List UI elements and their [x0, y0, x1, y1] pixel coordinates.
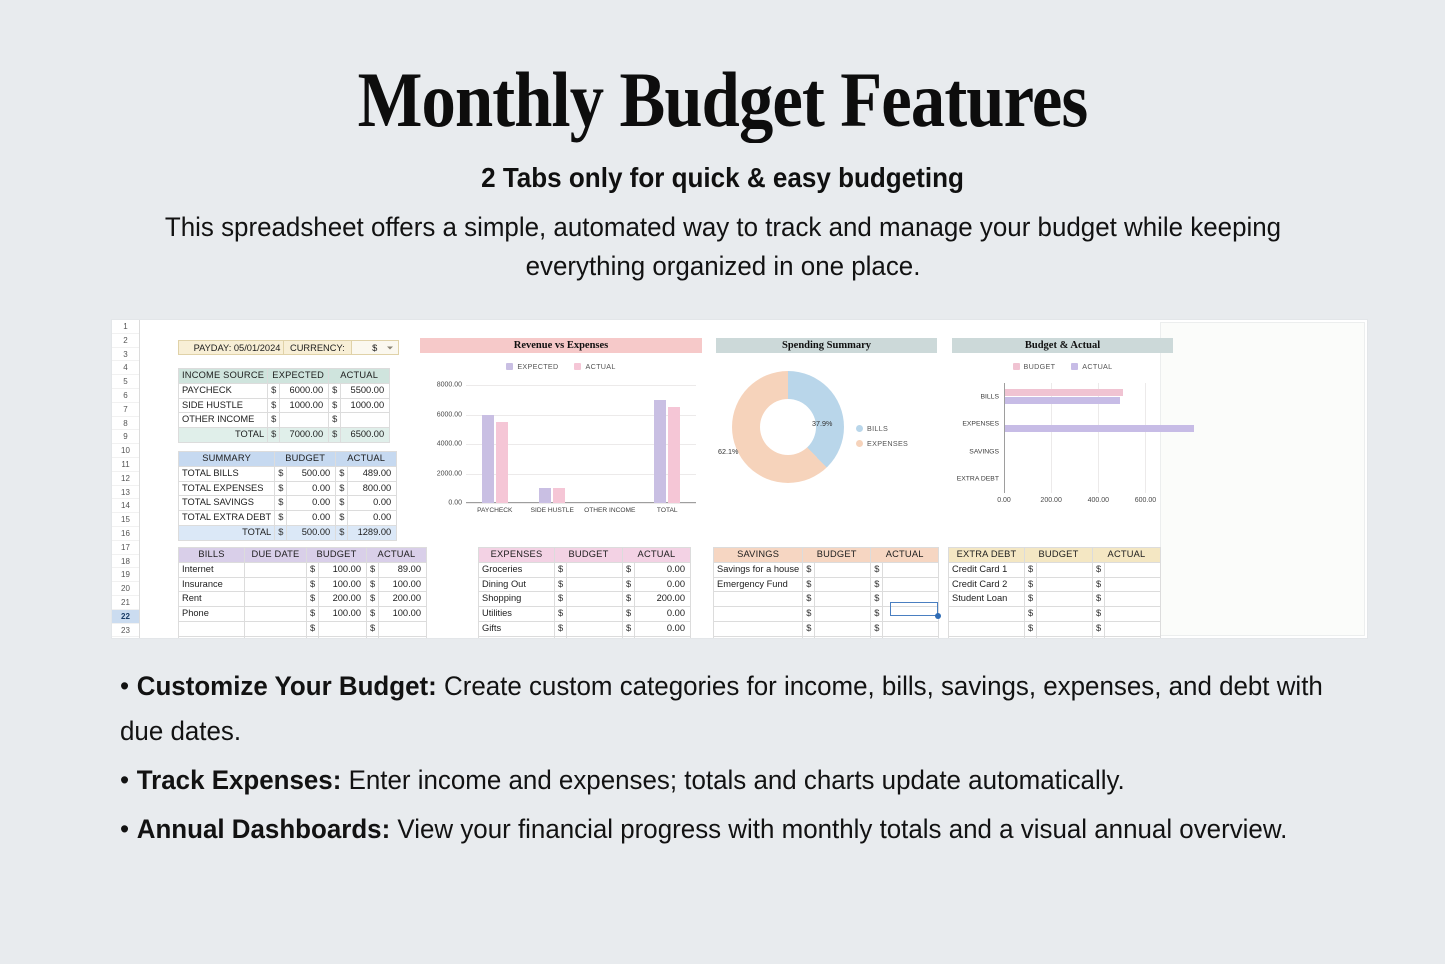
- value-cell[interactable]: [567, 577, 623, 592]
- currency-symbol[interactable]: $: [871, 592, 883, 607]
- currency-symbol[interactable]: $: [268, 398, 280, 413]
- value-cell[interactable]: 0.00: [348, 511, 397, 526]
- x-axis-tick-label: TOTAL: [657, 507, 678, 514]
- currency-symbol[interactable]: $: [871, 577, 883, 592]
- value-cell[interactable]: [1105, 621, 1161, 636]
- table-row[interactable]: Utilities$$0.00: [479, 607, 691, 622]
- currency-symbol[interactable]: $: [268, 413, 280, 428]
- legend-item: ACTUAL: [574, 362, 615, 371]
- value-cell[interactable]: [883, 577, 939, 592]
- chart-title-revenue: Revenue vs Expenses: [420, 338, 702, 353]
- value-cell[interactable]: [815, 621, 871, 636]
- currency-symbol[interactable]: $: [1025, 562, 1037, 577]
- value-cell[interactable]: [319, 636, 367, 638]
- value-cell[interactable]: [815, 577, 871, 592]
- row-label[interactable]: Student Loan: [949, 592, 1025, 607]
- value-cell[interactable]: [379, 621, 427, 636]
- currency-symbol[interactable]: $: [871, 636, 883, 638]
- row-label[interactable]: Rent: [179, 592, 245, 607]
- currency-symbol[interactable]: $: [268, 383, 280, 398]
- value-cell[interactable]: 0.00: [635, 621, 691, 636]
- header-row: EXPENSESBUDGETACTUAL: [479, 548, 691, 563]
- row-label[interactable]: PAYCHECK: [179, 383, 268, 398]
- value-cell[interactable]: [815, 636, 871, 638]
- value-cell[interactable]: [567, 621, 623, 636]
- value-cell[interactable]: [567, 636, 623, 638]
- row-number[interactable]: 7: [112, 403, 139, 417]
- row-label[interactable]: TOTAL BILLS: [179, 466, 275, 481]
- row-number[interactable]: 8: [112, 417, 139, 431]
- table-row[interactable]: $$: [179, 636, 427, 638]
- currency-symbol[interactable]: $: [555, 577, 567, 592]
- currency-symbol[interactable]: $: [307, 577, 319, 592]
- bar: [496, 422, 508, 503]
- value-cell[interactable]: 1000.00: [341, 398, 390, 413]
- value-cell[interactable]: 5500.00: [341, 383, 390, 398]
- currency-symbol[interactable]: $: [336, 481, 348, 496]
- row-number[interactable]: 23: [112, 624, 139, 638]
- column-header: BILLS: [179, 548, 245, 563]
- currency-symbol[interactable]: $: [1025, 636, 1037, 638]
- currency-symbol[interactable]: $: [1093, 621, 1105, 636]
- value-cell[interactable]: [1105, 592, 1161, 607]
- savings-table[interactable]: SAVINGSBUDGETACTUALSavings for a house$$…: [713, 547, 939, 638]
- currency-symbol[interactable]: $: [1093, 607, 1105, 622]
- bar: [668, 407, 680, 503]
- currency-symbol[interactable]: $: [1025, 621, 1037, 636]
- currency-symbol[interactable]: $: [1093, 562, 1105, 577]
- currency-symbol[interactable]: $: [275, 481, 287, 496]
- table-row[interactable]: $$: [714, 636, 939, 638]
- table-row[interactable]: Transportation$$0.00: [479, 636, 691, 638]
- value-cell[interactable]: [883, 607, 939, 622]
- row-number[interactable]: 11: [112, 458, 139, 472]
- summary-table[interactable]: SUMMARYBUDGETACTUALTOTAL BILLS$500.00$48…: [178, 451, 397, 541]
- row-label[interactable]: Groceries: [479, 562, 555, 577]
- currency-symbol[interactable]: $: [803, 562, 815, 577]
- table-row[interactable]: PAYCHECK$6000.00$5500.00: [179, 383, 390, 398]
- row-label[interactable]: Utilities: [479, 607, 555, 622]
- value-cell[interactable]: [1037, 607, 1093, 622]
- row-number[interactable]: 1: [112, 320, 139, 334]
- currency-symbol[interactable]: $: [336, 511, 348, 526]
- row-number[interactable]: 19: [112, 568, 139, 582]
- value-cell[interactable]: [883, 592, 939, 607]
- legend-label: EXPECTED: [517, 362, 558, 371]
- extra-debt-table[interactable]: EXTRA DEBTBUDGETACTUALCredit Card 1$$Cre…: [948, 547, 1161, 638]
- legend-swatch-bills: [856, 425, 863, 432]
- currency-symbol[interactable]: $: [275, 466, 287, 481]
- row-number[interactable]: 20: [112, 582, 139, 596]
- value-cell[interactable]: 200.00: [379, 592, 427, 607]
- row-number[interactable]: 3: [112, 348, 139, 362]
- currency-symbol[interactable]: $: [367, 607, 379, 622]
- column-header: EXPECTED: [268, 369, 329, 384]
- column-header: ACTUAL: [1093, 548, 1161, 563]
- row-label[interactable]: [714, 621, 803, 636]
- currency-symbol[interactable]: $: [555, 562, 567, 577]
- column-header: EXPENSES: [479, 548, 555, 563]
- value-cell[interactable]: 100.00: [379, 577, 427, 592]
- value-cell[interactable]: 500.00: [287, 466, 336, 481]
- table-row[interactable]: $$: [949, 607, 1161, 622]
- expenses-table[interactable]: EXPENSESBUDGETACTUALGroceries$$0.00Dinin…: [478, 547, 691, 638]
- currency-symbol[interactable]: $: [329, 398, 341, 413]
- currency-symbol[interactable]: $: [275, 496, 287, 511]
- table-row[interactable]: SIDE HUSTLE$1000.00$1000.00: [179, 398, 390, 413]
- value-cell[interactable]: 0.00: [635, 636, 691, 638]
- row-number[interactable]: 15: [112, 513, 139, 527]
- page-subtitle: 2 Tabs only for quick & easy budgeting: [51, 162, 1395, 194]
- currency-selector[interactable]: CURRENCY: $: [283, 340, 399, 355]
- row-label[interactable]: Credit Card 1: [949, 562, 1025, 577]
- row-label[interactable]: Transportation: [479, 636, 555, 638]
- budget-actual-chart: Budget & Actual BUDGET ACTUAL 0.00200.00…: [952, 338, 1173, 493]
- payday-cell[interactable]: PAYDAY: 05/01/2024: [178, 340, 296, 355]
- table-row[interactable]: TOTAL EXTRA DEBT$0.00$0.00: [179, 511, 397, 526]
- column-header: ACTUAL: [871, 548, 939, 563]
- table-row[interactable]: Rent$200.00$200.00: [179, 592, 427, 607]
- table-row[interactable]: $$: [949, 636, 1161, 638]
- value-cell[interactable]: [1037, 562, 1093, 577]
- currency-symbol[interactable]: $: [623, 636, 635, 638]
- table-row[interactable]: TOTAL EXPENSES$0.00$800.00: [179, 481, 397, 496]
- row-label[interactable]: [714, 592, 803, 607]
- table-row[interactable]: $$: [714, 621, 939, 636]
- currency-symbol[interactable]: $: [803, 592, 815, 607]
- row-label[interactable]: Insurance: [179, 577, 245, 592]
- table-row[interactable]: Dining Out$$0.00: [479, 577, 691, 592]
- currency-symbol[interactable]: $: [555, 592, 567, 607]
- table-row[interactable]: Emergency Fund$$: [714, 577, 939, 592]
- bar: [1005, 425, 1194, 432]
- legend-label: BUDGET: [1024, 362, 1056, 371]
- header-row: INCOME SOURCEEXPECTEDACTUAL: [179, 369, 390, 384]
- value-cell[interactable]: [815, 562, 871, 577]
- currency-symbol[interactable]: $: [555, 636, 567, 638]
- feature-item: •Annual Dashboards: View your financial …: [120, 807, 1349, 852]
- legend-swatch-actual: [574, 363, 581, 370]
- row-label[interactable]: Savings for a house: [714, 562, 803, 577]
- donut-value-bills: 37.9%: [812, 419, 832, 428]
- value-cell[interactable]: [1105, 636, 1161, 638]
- table-row[interactable]: $$: [714, 592, 939, 607]
- row-number[interactable]: 22: [112, 610, 139, 624]
- currency-symbol[interactable]: $: [336, 466, 348, 481]
- row-number[interactable]: 5: [112, 375, 139, 389]
- chart-title-budget: Budget & Actual: [952, 338, 1173, 353]
- currency-symbol[interactable]: $: [623, 577, 635, 592]
- value-cell[interactable]: 200.00: [635, 592, 691, 607]
- row-label[interactable]: SIDE HUSTLE: [179, 398, 268, 413]
- value-cell[interactable]: 100.00: [319, 577, 367, 592]
- bar: [539, 488, 551, 503]
- bar: [1005, 389, 1123, 396]
- currency-symbol[interactable]: $: [1025, 607, 1037, 622]
- value-cell[interactable]: [1105, 607, 1161, 622]
- value-cell[interactable]: [319, 621, 367, 636]
- currency-symbol[interactable]: $: [275, 511, 287, 526]
- row-label[interactable]: [179, 621, 245, 636]
- row-number[interactable]: 10: [112, 444, 139, 458]
- table-row[interactable]: Groceries$$0.00: [479, 562, 691, 577]
- value-cell[interactable]: [883, 621, 939, 636]
- column-header: SAVINGS: [714, 548, 803, 563]
- value-cell[interactable]: [379, 636, 427, 638]
- value-cell[interactable]: 200.00: [319, 592, 367, 607]
- legend-swatch-expenses: [856, 440, 863, 447]
- total-value[interactable]: 500.00: [287, 525, 336, 540]
- currency-symbol[interactable]: $: [803, 577, 815, 592]
- currency-symbol[interactable]: $: [623, 621, 635, 636]
- due-date-cell[interactable]: [245, 621, 307, 636]
- row-label[interactable]: TOTAL EXTRA DEBT: [179, 511, 275, 526]
- total-label[interactable]: TOTAL: [179, 525, 275, 540]
- value-cell[interactable]: 89.00: [379, 562, 427, 577]
- row-number[interactable]: 16: [112, 527, 139, 541]
- currency-symbol[interactable]: $: [307, 636, 319, 638]
- currency-symbol[interactable]: $: [307, 562, 319, 577]
- legend-item: ACTUAL: [1071, 362, 1112, 371]
- table-row[interactable]: Shopping$$200.00: [479, 592, 691, 607]
- row-number[interactable]: 2: [112, 334, 139, 348]
- gridline: [466, 503, 696, 504]
- table-row[interactable]: Student Loan$$: [949, 592, 1161, 607]
- row-label[interactable]: Credit Card 2: [949, 577, 1025, 592]
- table-row[interactable]: Insurance$100.00$100.00: [179, 577, 427, 592]
- table-row[interactable]: $$: [714, 607, 939, 622]
- value-cell[interactable]: [1037, 577, 1093, 592]
- due-date-cell[interactable]: [245, 592, 307, 607]
- currency-symbol[interactable]: $: [367, 636, 379, 638]
- row-number[interactable]: 21: [112, 596, 139, 610]
- value-cell[interactable]: 0.00: [635, 562, 691, 577]
- currency-symbol[interactable]: $: [329, 413, 341, 428]
- currency-symbol[interactable]: $: [1025, 592, 1037, 607]
- row-label[interactable]: [714, 607, 803, 622]
- row-label[interactable]: [714, 636, 803, 638]
- header-row: SAVINGSBUDGETACTUAL: [714, 548, 939, 563]
- column-header: INCOME SOURCE: [179, 369, 268, 384]
- row-label[interactable]: Internet: [179, 562, 245, 577]
- table-row[interactable]: $$: [179, 621, 427, 636]
- table-row[interactable]: Credit Card 2$$: [949, 577, 1161, 592]
- currency-symbol[interactable]: $: [871, 607, 883, 622]
- value-cell[interactable]: 0.00: [287, 481, 336, 496]
- table-row[interactable]: TOTAL BILLS$500.00$489.00: [179, 466, 397, 481]
- value-cell[interactable]: [1037, 592, 1093, 607]
- table-row[interactable]: Phone$100.00$100.00: [179, 607, 427, 622]
- bullet-marker: •: [120, 671, 129, 701]
- currency-symbol[interactable]: $: [623, 592, 635, 607]
- value-cell[interactable]: 0.00: [287, 511, 336, 526]
- column-header: ACTUAL: [329, 369, 390, 384]
- currency-symbol[interactable]: $: [367, 562, 379, 577]
- column-header: BUDGET: [555, 548, 623, 563]
- y-axis-tick-label: 8000.00: [437, 382, 462, 389]
- row-label[interactable]: TOTAL EXPENSES: [179, 481, 275, 496]
- table-row[interactable]: $$: [949, 621, 1161, 636]
- value-cell[interactable]: [567, 607, 623, 622]
- feature-term: Customize Your Budget:: [137, 671, 437, 701]
- currency-symbol[interactable]: $: [555, 621, 567, 636]
- legend-label: BILLS: [867, 424, 888, 433]
- currency-symbol[interactable]: $: [307, 607, 319, 622]
- value-cell[interactable]: 800.00: [348, 481, 397, 496]
- currency-symbol[interactable]: $: [329, 383, 341, 398]
- page-header: Monthly Budget Features 2 Tabs only for …: [0, 0, 1445, 286]
- value-cell[interactable]: [815, 592, 871, 607]
- row-number[interactable]: 4: [112, 361, 139, 375]
- row-label[interactable]: Dining Out: [479, 577, 555, 592]
- currency-symbol[interactable]: $: [623, 607, 635, 622]
- total-value[interactable]: 7000.00: [280, 428, 329, 443]
- row-number[interactable]: 17: [112, 541, 139, 555]
- value-cell[interactable]: [883, 562, 939, 577]
- value-cell[interactable]: 100.00: [379, 607, 427, 622]
- total-value[interactable]: 6500.00: [341, 428, 390, 443]
- currency-symbol[interactable]: $: [329, 428, 341, 443]
- row-label[interactable]: Emergency Fund: [714, 577, 803, 592]
- currency-symbol[interactable]: $: [1025, 577, 1037, 592]
- table-row[interactable]: Internet$100.00$89.00: [179, 562, 427, 577]
- column-header: ACTUAL: [336, 452, 397, 467]
- plot-area-budget: 0.00200.00400.00600.00BILLSEXPENSESSAVIN…: [1004, 383, 1169, 493]
- currency-symbol[interactable]: $: [268, 428, 280, 443]
- row-label[interactable]: [179, 636, 245, 638]
- gridline: [466, 385, 696, 386]
- due-date-cell[interactable]: [245, 607, 307, 622]
- donut-hole: [760, 399, 816, 455]
- row-label[interactable]: TOTAL SAVINGS: [179, 496, 275, 511]
- value-cell[interactable]: [341, 413, 390, 428]
- value-cell[interactable]: 100.00: [319, 562, 367, 577]
- row-label[interactable]: Shopping: [479, 592, 555, 607]
- row-label[interactable]: [949, 607, 1025, 622]
- value-cell[interactable]: 1000.00: [280, 398, 329, 413]
- row-label[interactable]: Phone: [179, 607, 245, 622]
- row-number[interactable]: 18: [112, 555, 139, 569]
- y-axis-tick-label: BILLS: [980, 393, 999, 400]
- currency-symbol[interactable]: $: [367, 577, 379, 592]
- currency-symbol[interactable]: $: [1093, 636, 1105, 638]
- currency-symbol[interactable]: $: [803, 607, 815, 622]
- row-label[interactable]: OTHER INCOME: [179, 413, 268, 428]
- y-axis-tick-label: 0.00: [448, 500, 462, 507]
- x-axis-tick-label: PAYCHECK: [477, 507, 512, 514]
- header-row: SUMMARYBUDGETACTUAL: [179, 452, 397, 467]
- row-number[interactable]: 12: [112, 472, 139, 486]
- due-date-cell[interactable]: [245, 562, 307, 577]
- x-axis-tick-label: 200.00: [1040, 497, 1061, 504]
- bills-table[interactable]: BILLSDUE DATEBUDGETACTUALInternet$100.00…: [178, 547, 427, 638]
- due-date-cell[interactable]: [245, 636, 307, 638]
- currency-dropdown[interactable]: $: [351, 340, 399, 355]
- page-title: Monthly Budget Features: [87, 60, 1359, 140]
- currency-symbol[interactable]: $: [803, 621, 815, 636]
- currency-symbol[interactable]: $: [336, 525, 348, 540]
- table-row[interactable]: TOTAL SAVINGS$0.00$0.00: [179, 496, 397, 511]
- y-axis-tick-label: 4000.00: [437, 441, 462, 448]
- value-cell[interactable]: [1105, 577, 1161, 592]
- currency-symbol[interactable]: $: [307, 592, 319, 607]
- value-cell[interactable]: [280, 413, 329, 428]
- currency-symbol[interactable]: $: [871, 562, 883, 577]
- currency-symbol[interactable]: $: [555, 607, 567, 622]
- currency-symbol[interactable]: $: [1093, 592, 1105, 607]
- row-label[interactable]: Gifts: [479, 621, 555, 636]
- value-cell[interactable]: 0.00: [287, 496, 336, 511]
- currency-symbol[interactable]: $: [623, 562, 635, 577]
- table-row[interactable]: Gifts$$0.00: [479, 621, 691, 636]
- currency-symbol[interactable]: $: [367, 592, 379, 607]
- column-header: BUDGET: [1025, 548, 1093, 563]
- y-axis-tick-label: 2000.00: [437, 470, 462, 477]
- currency-symbol[interactable]: $: [307, 621, 319, 636]
- table-row[interactable]: OTHER INCOME$$: [179, 413, 390, 428]
- feature-list: •Customize Your Budget: Create custom ca…: [120, 664, 1349, 856]
- table-row[interactable]: Credit Card 1$$: [949, 562, 1161, 577]
- legend-swatch-budget: [1013, 363, 1020, 370]
- bar: [654, 400, 666, 503]
- value-cell[interactable]: 0.00: [635, 607, 691, 622]
- total-label[interactable]: TOTAL: [179, 428, 268, 443]
- value-cell[interactable]: [1037, 621, 1093, 636]
- row-number[interactable]: 9: [112, 430, 139, 444]
- bar: [482, 415, 494, 504]
- currency-symbol[interactable]: $: [803, 636, 815, 638]
- currency-symbol[interactable]: $: [336, 496, 348, 511]
- value-cell[interactable]: [567, 592, 623, 607]
- value-cell[interactable]: 0.00: [348, 496, 397, 511]
- legend-label: ACTUAL: [1082, 362, 1112, 371]
- value-cell[interactable]: [815, 607, 871, 622]
- value-cell[interactable]: [1105, 562, 1161, 577]
- x-axis-tick-label: 400.00: [1088, 497, 1109, 504]
- table-row[interactable]: Savings for a house$$: [714, 562, 939, 577]
- row-number[interactable]: 13: [112, 486, 139, 500]
- spreadsheet-screenshot: 1234567891011121314151617181920212223 PA…: [112, 320, 1367, 638]
- row-number[interactable]: 6: [112, 389, 139, 403]
- chevron-down-icon: [387, 346, 393, 349]
- row-label[interactable]: [949, 621, 1025, 636]
- value-cell[interactable]: [883, 636, 939, 638]
- value-cell[interactable]: 100.00: [319, 607, 367, 622]
- total-value[interactable]: 1289.00: [348, 525, 397, 540]
- column-header: ACTUAL: [367, 548, 427, 563]
- value-cell[interactable]: 0.00: [635, 577, 691, 592]
- column-header: BUDGET: [803, 548, 871, 563]
- income-table[interactable]: INCOME SOURCEEXPECTEDACTUALPAYCHECK$6000…: [178, 368, 390, 443]
- bar: [1005, 397, 1120, 404]
- column-header: SUMMARY: [179, 452, 275, 467]
- value-cell[interactable]: [567, 562, 623, 577]
- row-label[interactable]: [949, 636, 1025, 638]
- value-cell[interactable]: [1037, 636, 1093, 638]
- currency-symbol[interactable]: $: [871, 621, 883, 636]
- currency-symbol[interactable]: $: [275, 525, 287, 540]
- currency-symbol[interactable]: $: [1093, 577, 1105, 592]
- x-axis-tick-label: 600.00: [1135, 497, 1156, 504]
- column-header: BUDGET: [275, 452, 336, 467]
- value-cell[interactable]: 6000.00: [280, 383, 329, 398]
- feature-term: Annual Dashboards:: [137, 814, 390, 844]
- due-date-cell[interactable]: [245, 577, 307, 592]
- value-cell[interactable]: 489.00: [348, 466, 397, 481]
- currency-symbol[interactable]: $: [367, 621, 379, 636]
- row-number[interactable]: 14: [112, 499, 139, 513]
- gridline: [1145, 383, 1146, 493]
